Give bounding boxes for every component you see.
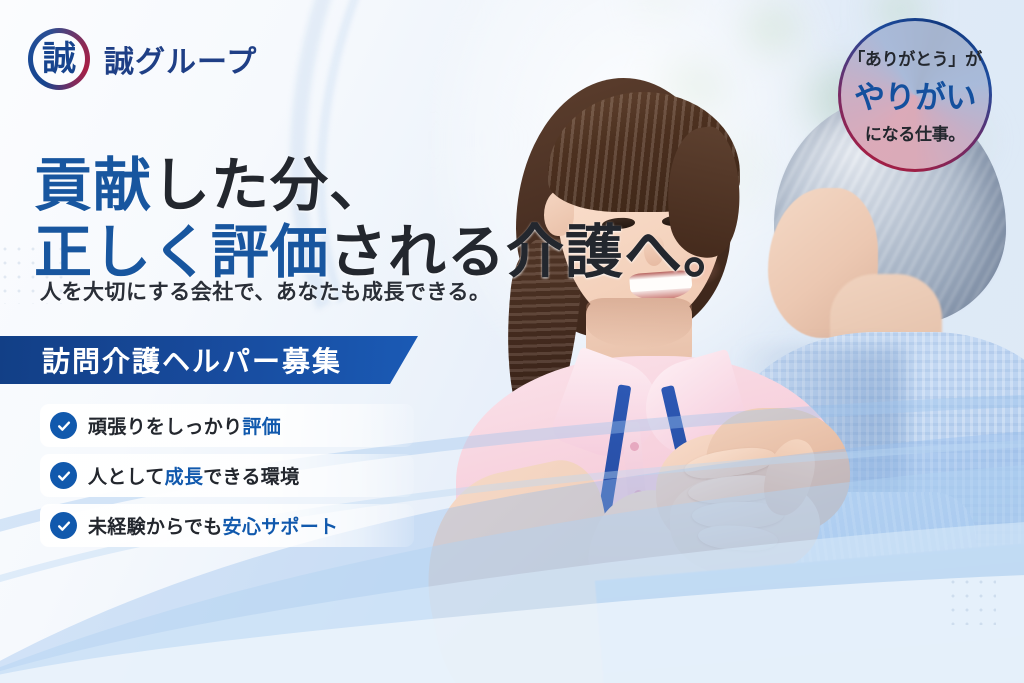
logo-wordmark: 誠グループ bbox=[104, 37, 257, 81]
logo-kanji: 誠 bbox=[42, 42, 76, 76]
ribbon-label: 訪問介護ヘルパー募集 bbox=[42, 340, 342, 380]
feature-emphasis: 評価 bbox=[242, 416, 281, 438]
feature-text: 頑張りをしっかり評価 bbox=[88, 412, 281, 439]
list-item[interactable]: 人として成長できる環境 bbox=[40, 454, 414, 497]
badge-line-2: やりがい bbox=[854, 72, 976, 117]
dot-grid-right bbox=[946, 575, 996, 625]
recruitment-ribbon: 訪問介護ヘルパー募集 bbox=[0, 336, 418, 384]
badge-line-3: になる仕事。 bbox=[865, 120, 965, 145]
status-badge: 「ありがとう」が やりがい になる仕事。 bbox=[838, 18, 992, 172]
feature-emphasis: 安心サポート bbox=[223, 516, 339, 538]
check-circle-icon bbox=[50, 412, 77, 439]
headline-line-1: 貢献した分、 bbox=[34, 155, 742, 216]
feature-plain: 頑張りをしっかり bbox=[88, 416, 242, 438]
headline-line-1-emphasis: 貢献 bbox=[34, 151, 152, 219]
subtitle: 人を大切にする会社で、あなたも成長できる。 bbox=[40, 276, 490, 306]
feature-list: 頑張りをしっかり評価 人として成長できる環境 未経験からでも安心サポート bbox=[40, 404, 414, 547]
badge-line-1: 「ありがとう」が bbox=[848, 45, 982, 70]
check-circle-icon bbox=[50, 462, 77, 489]
brand-logo[interactable]: 誠 誠グループ bbox=[28, 28, 257, 90]
feature-tail: できる環境 bbox=[203, 466, 299, 488]
feature-plain: 未経験からでも bbox=[88, 516, 223, 538]
list-item[interactable]: 頑張りをしっかり評価 bbox=[40, 404, 414, 447]
feature-text: 人として成長できる環境 bbox=[88, 462, 299, 489]
logo-seal-icon: 誠 bbox=[28, 28, 90, 90]
caregiver-button-top bbox=[630, 442, 639, 451]
list-item[interactable]: 未経験からでも安心サポート bbox=[40, 504, 414, 547]
headline-line-1-rest: した分、 bbox=[152, 151, 388, 219]
feature-plain: 人として bbox=[88, 466, 165, 488]
check-circle-icon bbox=[50, 512, 77, 539]
feature-emphasis: 成長 bbox=[165, 466, 204, 488]
headline-line-2: 正しく評価される介護へ。 bbox=[34, 222, 742, 283]
feature-text: 未経験からでも安心サポート bbox=[88, 512, 338, 539]
page-title: 貢献した分、 正しく評価される介護へ。 bbox=[34, 155, 742, 284]
caregiver-neck-shadow bbox=[586, 298, 692, 348]
hero-banner: 誠 誠グループ 貢献した分、 正しく評価される介護へ。 人を大切にする会社で、あ… bbox=[0, 0, 1024, 683]
